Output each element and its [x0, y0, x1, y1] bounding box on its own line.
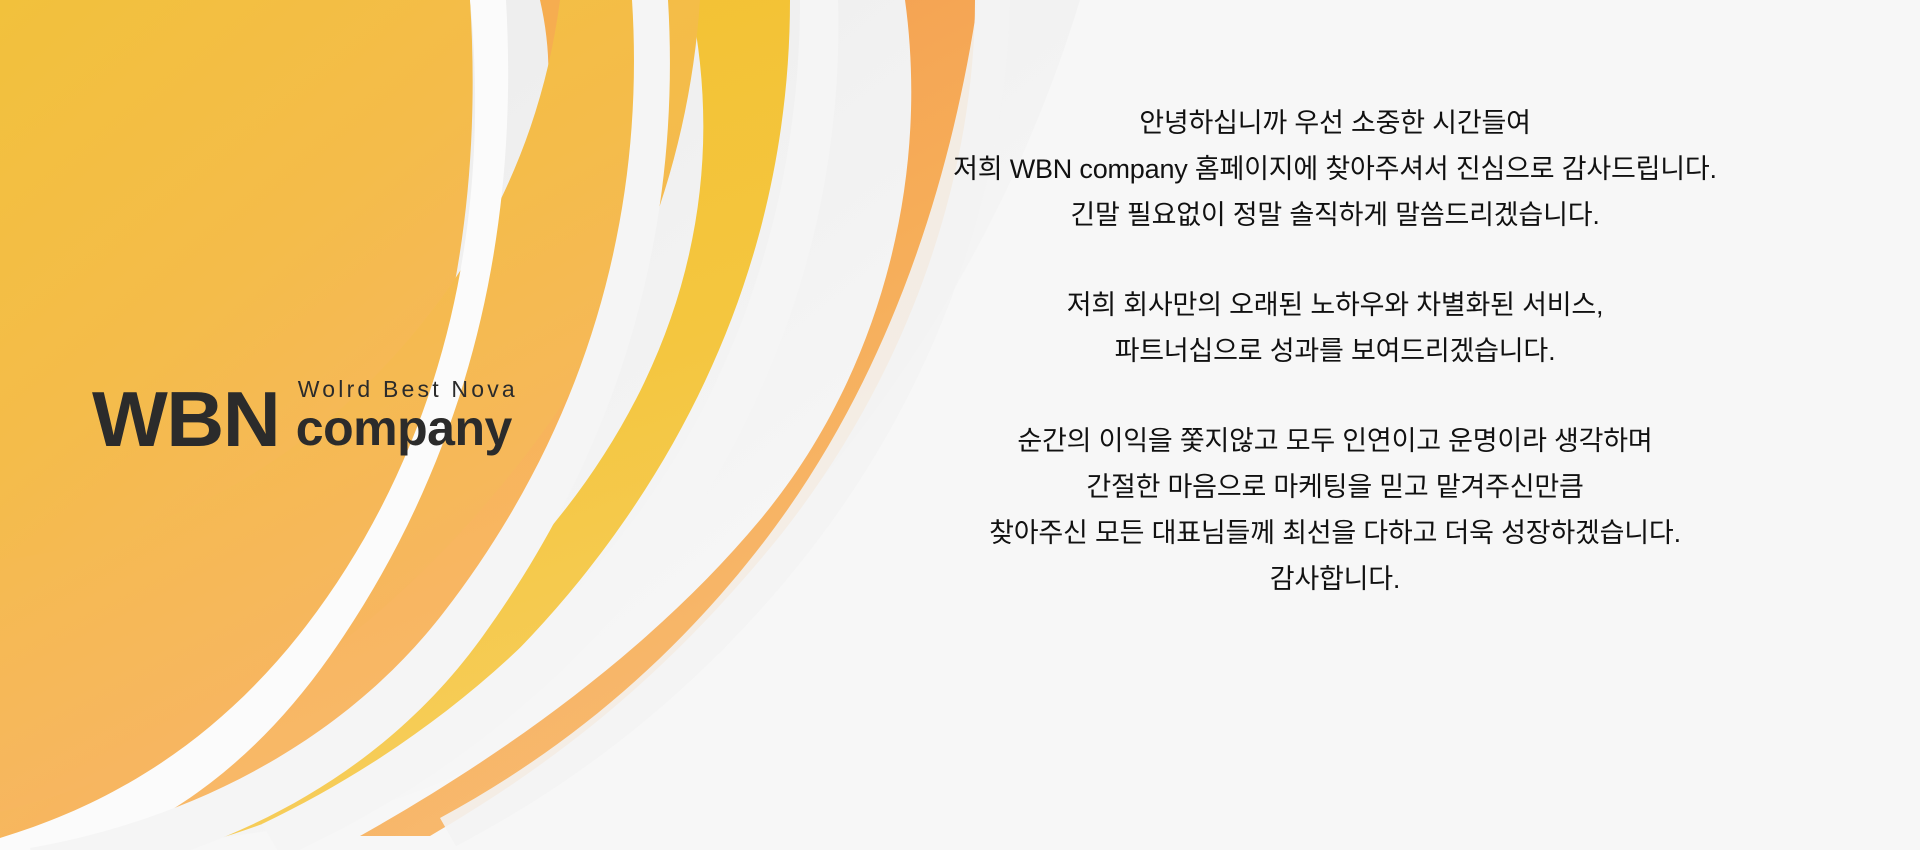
brand-logo[interactable]: WBN Wolrd Best Nova company — [92, 378, 518, 453]
logo-company-word: company — [296, 405, 512, 451]
message-paragraph: 안녕하십니까 우선 소중한 시간들여 저희 WBN company 홈페이지에 … — [830, 100, 1840, 238]
message-line: 순간의 이익을 쫓지않고 모두 인연이고 운명이라 생각하며 — [830, 418, 1840, 464]
message-line: 저희 WBN company 홈페이지에 찾아주셔서 진심으로 감사드립니다. — [830, 146, 1840, 192]
greeting-message: 안녕하십니까 우선 소중한 시간들여 저희 WBN company 홈페이지에 … — [830, 100, 1840, 602]
message-line: 간절한 마음으로 마케팅을 믿고 맡겨주신만큼 — [830, 464, 1840, 510]
message-line: 긴말 필요없이 정말 솔직하게 말씀드리겠습니다. — [830, 192, 1840, 238]
logo-mark-wbn: WBN — [92, 386, 279, 453]
message-line: 찾아주신 모든 대표님들께 최선을 다하고 더욱 성장하겠습니다. — [830, 510, 1840, 556]
message-line: 안녕하십니까 우선 소중한 시간들여 — [830, 100, 1840, 146]
logo-tagline: Wolrd Best Nova — [298, 378, 518, 401]
message-line: 저희 회사만의 오래된 노하우와 차별화된 서비스, — [830, 282, 1840, 328]
message-line: 감사합니다. — [830, 556, 1840, 602]
logo-wordmark: Wolrd Best Nova company — [296, 378, 518, 453]
promo-banner: WBN Wolrd Best Nova company 안녕하십니까 우선 소중… — [0, 0, 1920, 850]
message-paragraph: 순간의 이익을 쫓지않고 모두 인연이고 운명이라 생각하며 간절한 마음으로 … — [830, 418, 1840, 602]
message-paragraph: 저희 회사만의 오래된 노하우와 차별화된 서비스, 파트너십으로 성과를 보여… — [830, 282, 1840, 374]
message-line: 파트너십으로 성과를 보여드리겠습니다. — [830, 328, 1840, 374]
